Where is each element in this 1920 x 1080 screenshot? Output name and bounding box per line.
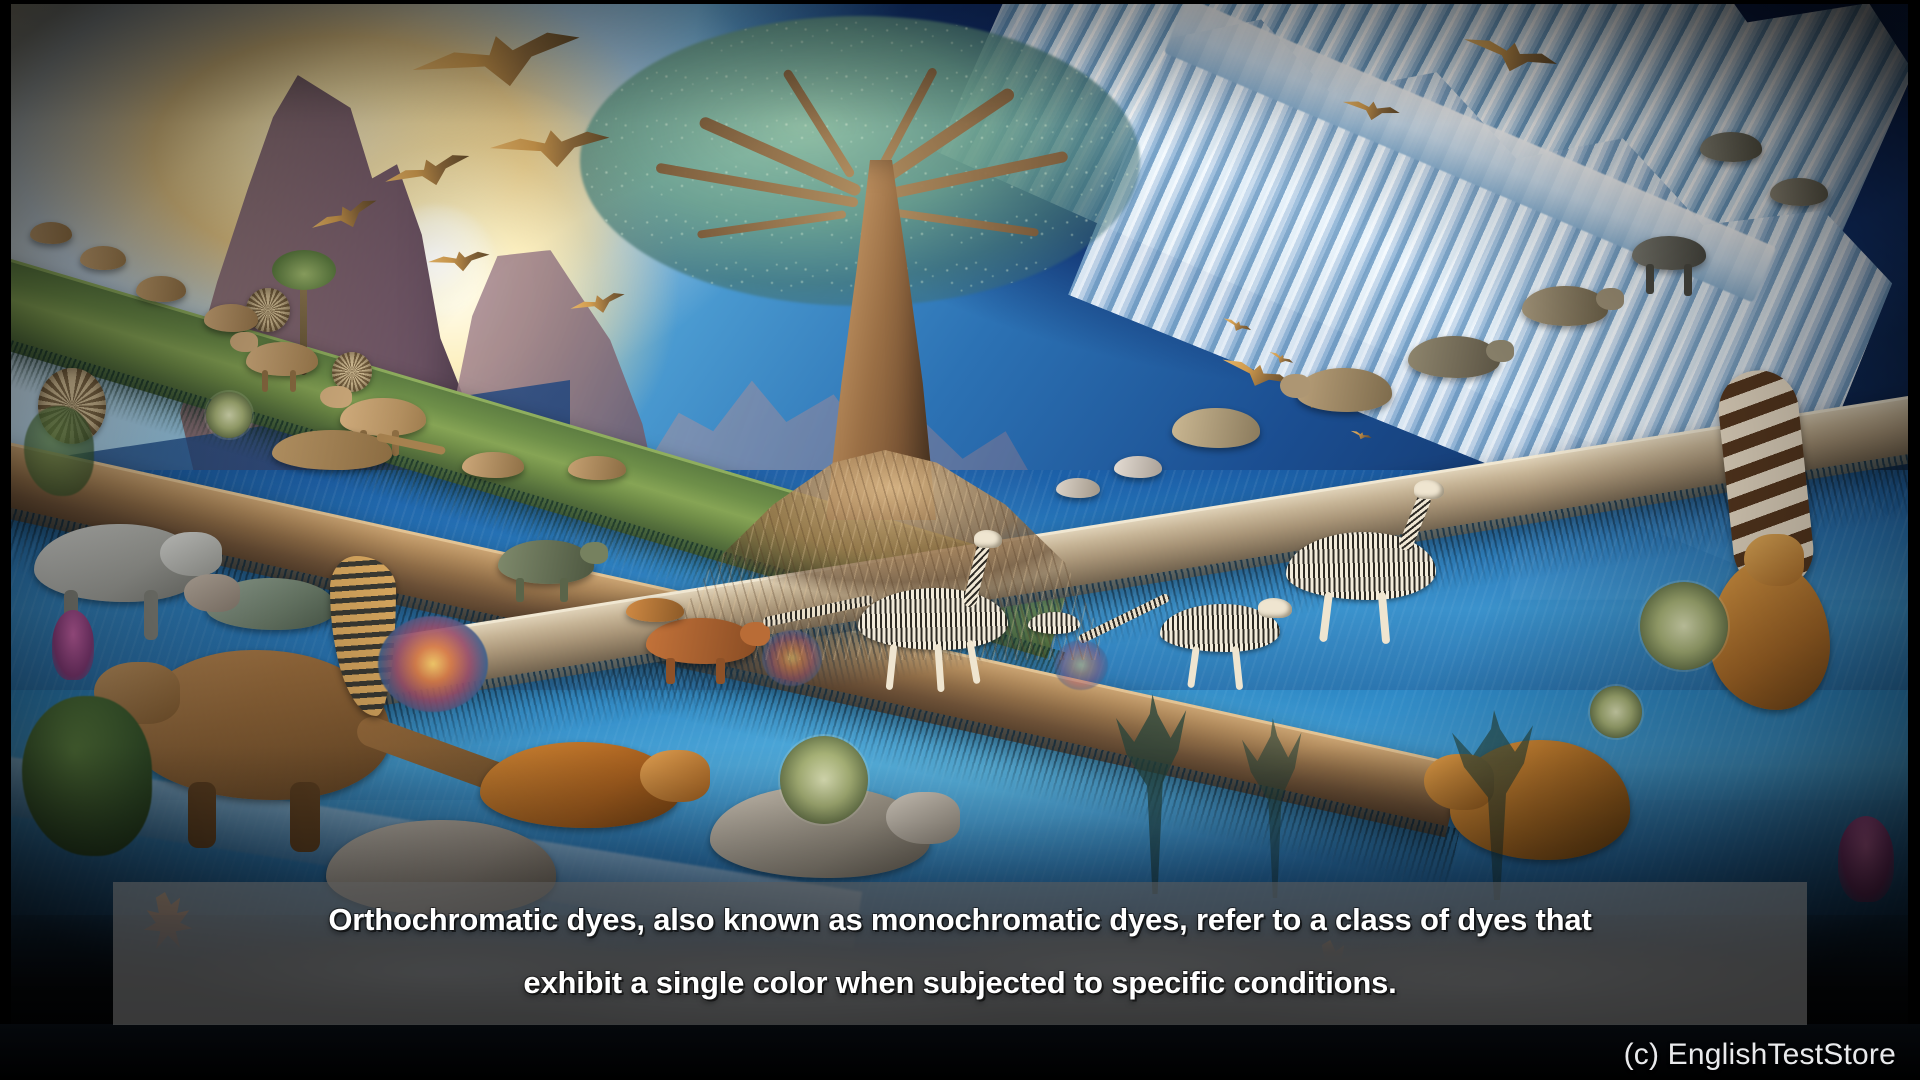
mammal-head [1486,340,1514,362]
canid-head [160,532,222,576]
canid-leg [144,590,158,640]
foreground-shrub [24,406,94,496]
hadrosaur-head [230,332,258,352]
skeleton-skull [1414,480,1444,499]
amphibian-creature [206,578,336,630]
sloth-leg [188,782,216,848]
small-skeleton [1028,612,1080,634]
early-mammal-leg [516,578,524,602]
early-mammal-leg [716,658,725,684]
frame-left [0,0,11,1080]
hadrosaur-head [320,386,352,408]
ice-age-mammal [1632,236,1706,270]
early-mammal-leg [560,578,568,602]
marine-reptile [330,556,396,716]
grazing-dinosaur [568,456,626,480]
lemur-head [1744,534,1804,586]
tree-of-life [590,10,1150,650]
skeleton-skull [1258,598,1292,618]
hadrosaur-leg [262,370,268,392]
ice-age-mammal [1700,132,1762,162]
herbivore-dinosaur [30,222,72,244]
frame-top [0,0,1920,4]
palm-crown [272,250,336,290]
herbivore-dinosaur [80,246,126,270]
prehistoric-canid [34,524,204,602]
grazing-dinosaur [462,452,524,478]
early-mammal [646,618,756,664]
herbivore-dinosaur [136,276,186,302]
small-mammal [1056,478,1100,498]
large-dinosaur-skeleton [1286,532,1436,600]
lemur [1710,560,1830,710]
mammal-head [1280,374,1310,398]
flowering-plant [1838,816,1894,902]
canid-head [886,792,960,844]
jellyfish [378,616,488,712]
ice-age-mammal [1296,368,1392,412]
theropod-skeleton [1160,604,1280,652]
amphibian-head [184,574,240,612]
flowering-plant [52,610,94,680]
screenshot-root: Orthochromatic dyes, also known as monoc… [0,0,1920,1080]
hadrosaur-leg [290,370,296,392]
sea-urchin [1590,686,1642,738]
herbivore-dinosaur [204,304,258,332]
caption-line-2: exhibit a single color when subjected to… [113,951,1807,1014]
watermark-text: (c) EnglishTestStore [1624,1038,1896,1072]
ice-age-mammal [1770,178,1828,206]
hadrosaur [246,342,318,376]
early-mammal-head [580,542,608,564]
early-mammal [498,540,594,584]
jellyfish [762,630,822,686]
primate-head [640,750,710,802]
sea-urchin [1640,582,1728,670]
mammal-leg [1646,264,1654,294]
ice-age-mammal [1408,336,1500,378]
sloth-leg [290,782,320,852]
mammal-leg [1684,264,1692,296]
caption-overlay: Orthochromatic dyes, also known as monoc… [113,882,1807,1025]
small-reptile [626,598,684,622]
sauropod [272,430,392,470]
jellyfish [1054,640,1108,690]
foreground-primate [480,742,680,828]
skeleton-skull [974,530,1002,548]
ice-age-mammal [1522,286,1608,326]
sea-urchin [780,736,868,824]
frame-right [1908,0,1920,1080]
sauropod-skeleton [858,588,1008,650]
ice-age-mammal [1172,408,1260,448]
illustration-canvas [10,0,1910,1035]
early-mammal-leg [666,658,675,684]
caption-line-1: Orthochromatic dyes, also known as monoc… [113,888,1807,951]
small-mammal [1114,456,1162,478]
mammal-head [1596,288,1624,310]
sea-urchin [206,392,252,438]
